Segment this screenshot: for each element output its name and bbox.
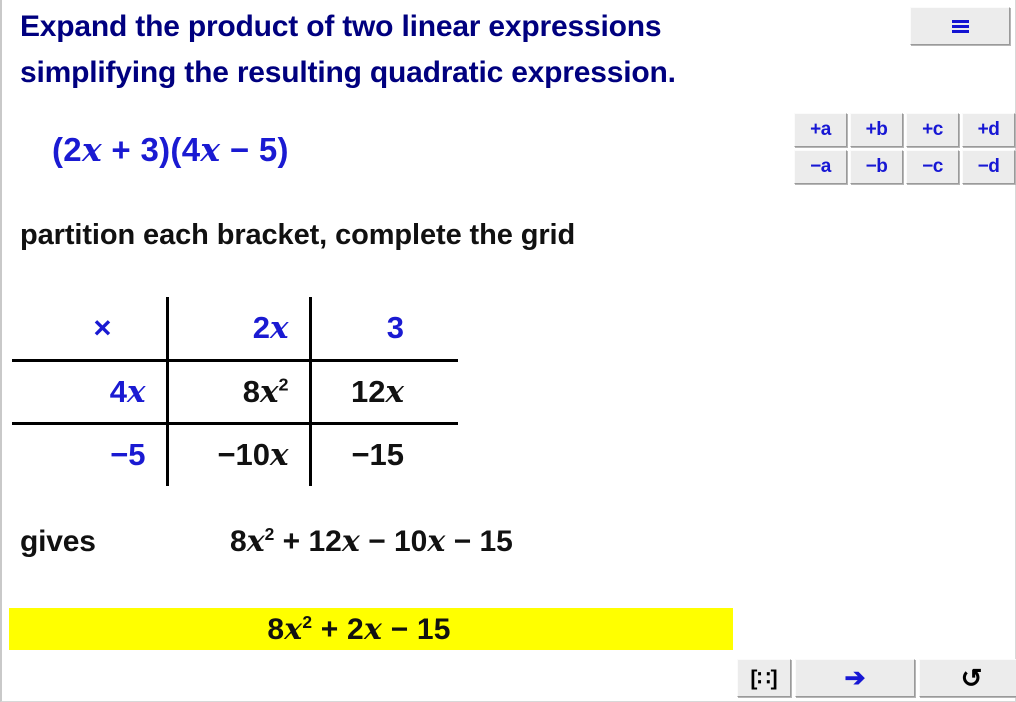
factor1-coefficient: 2 [63,131,82,168]
page-title-line-1: Expand the product of two linear express… [20,4,900,50]
factor2-coefficient: 4 [182,131,201,168]
arrow-right-icon: ➔ [845,666,866,691]
increment-b-button[interactable]: +b [850,113,903,147]
product-expression: (2x + 3)(4x − 5) [52,130,289,169]
exponent: 2 [279,374,289,394]
variable-x: x [270,310,288,346]
exponent: 2 [265,524,275,544]
factor1-constant: 3 [140,131,159,168]
reset-button[interactable]: ↺ [919,659,1016,697]
grid-cell-r2c1[interactable]: −10x [167,423,310,486]
grid-row-header-2: −5 [12,423,167,486]
factor1-sign: + [111,131,131,168]
grid-table: × 2x 3 4x 8x2 12x −5 −10x −15 [12,297,458,486]
next-button[interactable]: ➔ [795,659,915,697]
grid-row-2: −5 −10x −15 [12,423,458,486]
increment-d-button[interactable]: +d [962,113,1015,147]
variable-x: x [247,524,265,559]
expanded-expression: 8x2 + 12x − 10x − 15 [230,525,513,558]
grid-row-header-1: 4x [12,360,167,423]
operator-2: − [391,613,409,646]
dice-icon: [∷] [750,668,777,689]
multiplication-grid: × 2x 3 4x 8x2 12x −5 −10x −15 [12,297,458,487]
grid-cell-r1c2[interactable]: 12x [310,360,458,423]
factor2-constant: 5 [259,131,278,168]
page-title: Expand the product of two linear express… [20,4,900,96]
grid-column-header-1: 2x [167,297,310,360]
simplified-expression: 8x2 + 2x − 15 [267,612,450,647]
grid-corner-multiply-icon: × [12,297,167,360]
answer-highlight-bar: 8x2 + 2x − 15 [9,608,733,650]
increment-a-button[interactable]: +a [794,113,847,147]
decrement-a-button[interactable]: −a [794,150,847,184]
increment-c-button[interactable]: +c [906,113,959,147]
variable-x: x [260,374,278,410]
operator-2: − [368,525,386,558]
constant-term: 15 [479,525,512,558]
expanded-result-row: gives8x2 + 12x − 10x − 15 [20,524,720,559]
hamburger-menu-icon [952,20,969,33]
variable-x: x [342,524,360,559]
grid-header-row: × 2x 3 [12,297,458,360]
exponent: 2 [302,612,312,632]
variable-x: x [200,130,220,169]
coefficient-pad: +a +b +c +d −a −b −c −d [794,113,1016,184]
variable-x: x [82,130,102,169]
grid-cell-r1c1[interactable]: 8x2 [167,360,310,423]
grid-cell-r2c2[interactable]: −15 [310,423,458,486]
decrement-c-button[interactable]: −c [906,150,959,184]
constant-term: 15 [417,613,451,646]
variable-x: x [364,612,382,647]
variable-x: x [386,374,404,410]
randomize-button[interactable]: [∷] [737,659,791,697]
operator-3: − [454,525,472,558]
reset-circular-arrow-icon: ↺ [961,665,983,691]
worksheet-stage: Expand the product of two linear express… [2,0,1015,701]
variable-x: x [270,437,288,473]
instruction-text: partition each bracket, complete the gri… [20,219,575,252]
variable-x: x [127,374,145,410]
factor2-sign: − [230,131,250,168]
menu-button[interactable] [910,7,1010,45]
variable-x: x [427,524,445,559]
decrement-b-button[interactable]: −b [850,150,903,184]
operator-1: + [321,613,339,646]
variable-x: x [284,612,302,647]
gives-label: gives [20,525,230,559]
decrement-d-button[interactable]: −d [962,150,1015,184]
grid-row-1: 4x 8x2 12x [12,360,458,423]
grid-column-header-2: 3 [310,297,458,360]
bottom-toolbar: [∷] ➔ ↺ [737,659,1016,697]
page-title-line-2: simplifying the resulting quadratic expr… [20,50,900,96]
operator-1: + [283,525,301,558]
